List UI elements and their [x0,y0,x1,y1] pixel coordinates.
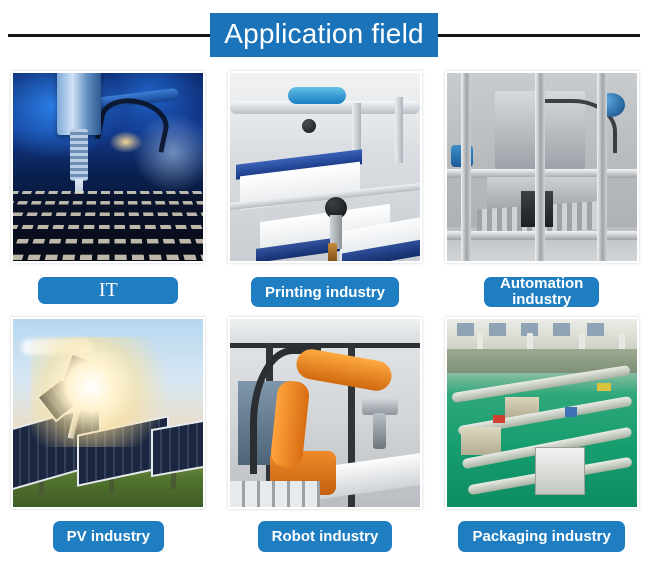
card-label-automation[interactable]: Automation industry [484,277,599,307]
card-label-pv[interactable]: PV industry [53,521,164,552]
card-automation[interactable]: Automation industry [433,60,650,307]
card-image-printing [228,71,422,263]
header-rule-left [8,34,210,37]
card-robot[interactable]: Robot industry [217,307,434,552]
card-label-robot[interactable]: Robot industry [258,521,393,552]
application-grid: IT [0,60,650,582]
card-image-robot [228,317,422,509]
card-printing[interactable]: Printing industry [217,60,434,307]
card-label-it[interactable]: IT [38,277,178,304]
card-it[interactable]: IT [0,60,217,307]
card-packaging[interactable]: Packaging industry [433,307,650,552]
card-label-printing[interactable]: Printing industry [251,277,399,307]
application-field-page: Application field IT [0,0,650,582]
automation-photo-art [447,73,637,261]
card-image-pv [11,317,205,509]
packaging-photo-art [447,319,637,507]
card-image-it [11,71,205,263]
it-photo-art [13,73,203,261]
card-label-packaging[interactable]: Packaging industry [458,521,624,552]
robot-photo-art [230,319,420,507]
pv-photo-art [13,319,203,507]
page-title: Application field [210,13,438,57]
printing-photo-art [230,73,420,261]
header-rule-right [438,34,640,37]
card-pv[interactable]: PV industry [0,307,217,552]
card-image-automation [445,71,639,263]
card-image-packaging [445,317,639,509]
section-header: Application field [0,14,650,56]
